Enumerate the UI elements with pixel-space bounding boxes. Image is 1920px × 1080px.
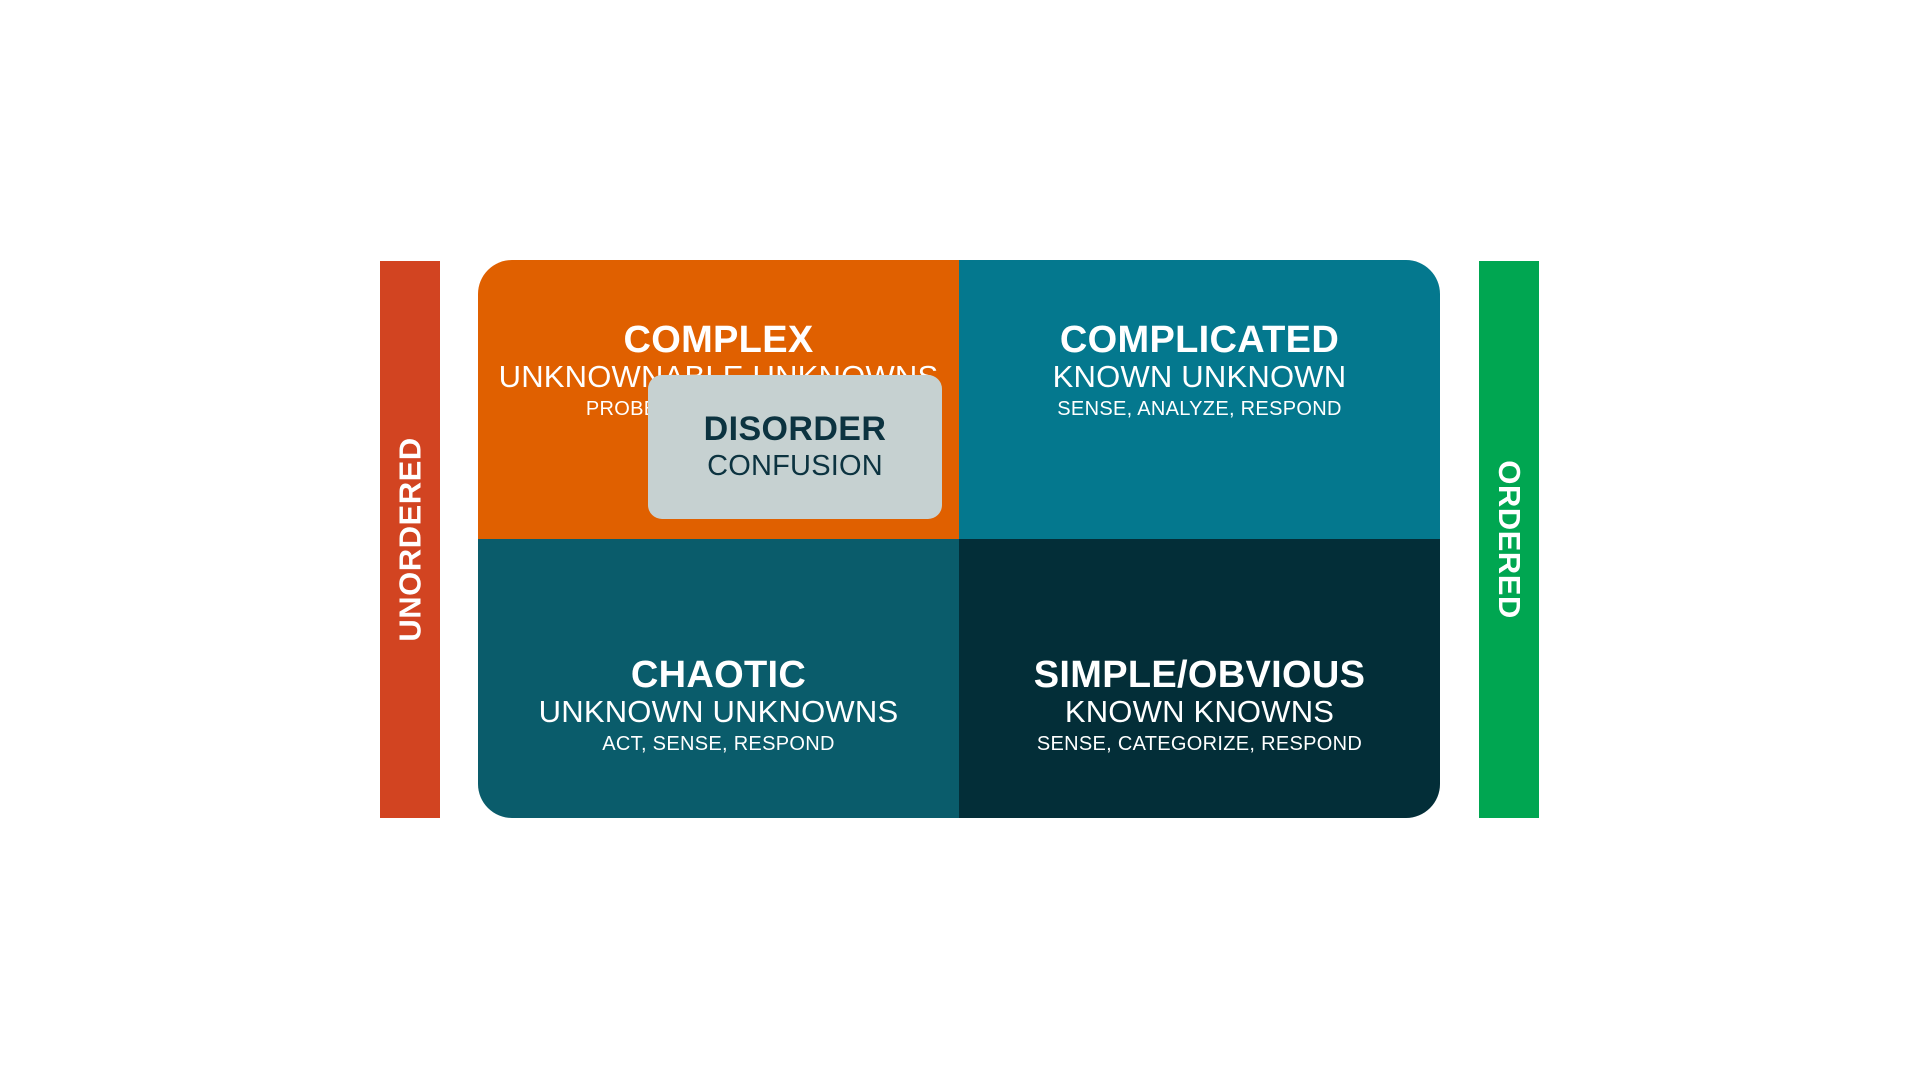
axis-label-ordered: ORDERED (1494, 460, 1525, 619)
quadrant-chaotic-actions: ACT, SENSE, RESPOND (602, 732, 834, 756)
disorder-title: DISORDER (704, 411, 887, 448)
quadrant-chaotic-subtitle: UNKNOWN UNKNOWNS (539, 695, 899, 730)
quadrant-simple-obvious[interactable]: SIMPLE/OBVIOUS KNOWN KNOWNS SENSE, CATEG… (959, 539, 1440, 818)
cynefin-framework-diagram: UNORDERED ORDERED COMPLEX UNKNOWNABLE UN… (0, 0, 1920, 1080)
axis-bar-ordered: ORDERED (1479, 261, 1539, 818)
quadrant-chaotic-title: CHAOTIC (631, 655, 806, 695)
quadrant-simple-obvious-actions: SENSE, CATEGORIZE, RESPOND (1037, 732, 1362, 756)
axis-bar-unordered: UNORDERED (380, 261, 440, 818)
axis-label-unordered: UNORDERED (395, 437, 426, 641)
quadrant-complicated-subtitle: KNOWN UNKNOWN (1053, 360, 1347, 395)
disorder-subtitle: CONFUSION (707, 450, 883, 483)
center-card-disorder[interactable]: DISORDER CONFUSION (648, 375, 942, 519)
quadrant-complicated-title: COMPLICATED (1060, 320, 1339, 360)
quadrant-matrix: COMPLEX UNKNOWNABLE UNKNOWNS PROBE, SENS… (478, 260, 1440, 818)
quadrant-complex-title: COMPLEX (623, 320, 813, 360)
quadrant-simple-obvious-title: SIMPLE/OBVIOUS (1034, 655, 1365, 695)
quadrant-complicated-actions: SENSE, ANALYZE, RESPOND (1057, 397, 1341, 421)
quadrant-chaotic[interactable]: CHAOTIC UNKNOWN UNKNOWNS ACT, SENSE, RES… (478, 539, 959, 818)
quadrant-complicated[interactable]: COMPLICATED KNOWN UNKNOWN SENSE, ANALYZE… (959, 260, 1440, 539)
quadrant-simple-obvious-subtitle: KNOWN KNOWNS (1065, 695, 1334, 730)
